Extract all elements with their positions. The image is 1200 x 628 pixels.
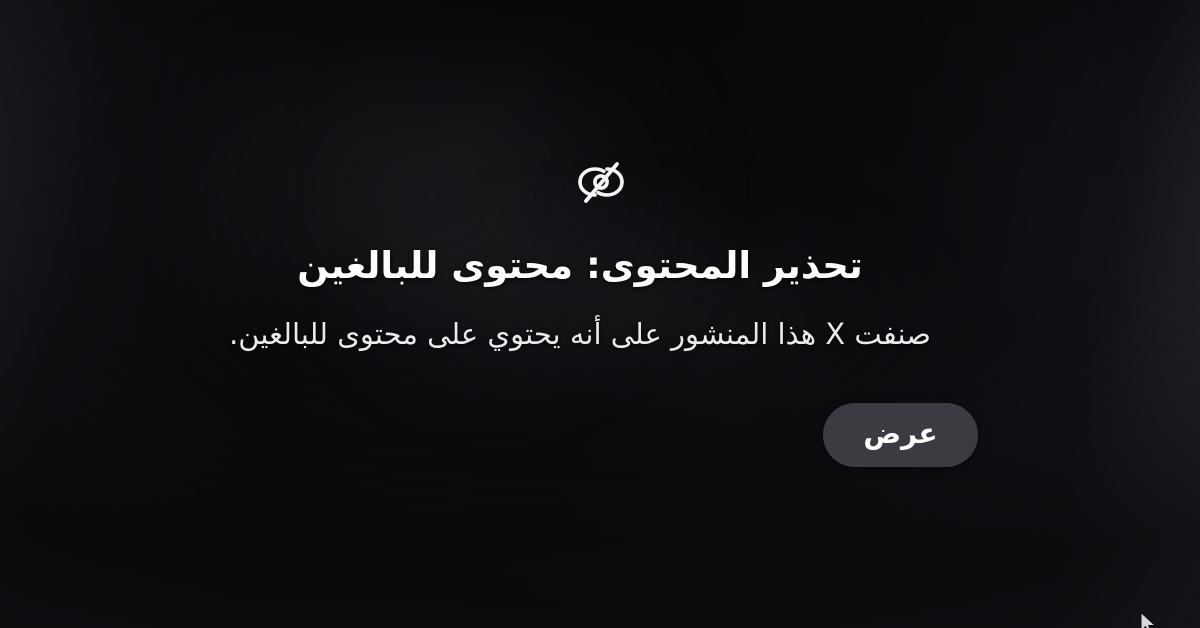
view-button[interactable]: عرض bbox=[823, 403, 978, 467]
action-row: عرض bbox=[823, 403, 978, 467]
eye-off-icon bbox=[572, 157, 630, 207]
page-title: تحذير المحتوى: محتوى للبالغين bbox=[180, 243, 980, 289]
content-warning-overlay: تحذير المحتوى: محتوى للبالغين صنفت X هذا… bbox=[0, 0, 1200, 628]
background-vignette bbox=[0, 0, 1200, 628]
warning-description: صنفت X هذا المنشور على أنه يحتوي على محت… bbox=[180, 316, 980, 354]
